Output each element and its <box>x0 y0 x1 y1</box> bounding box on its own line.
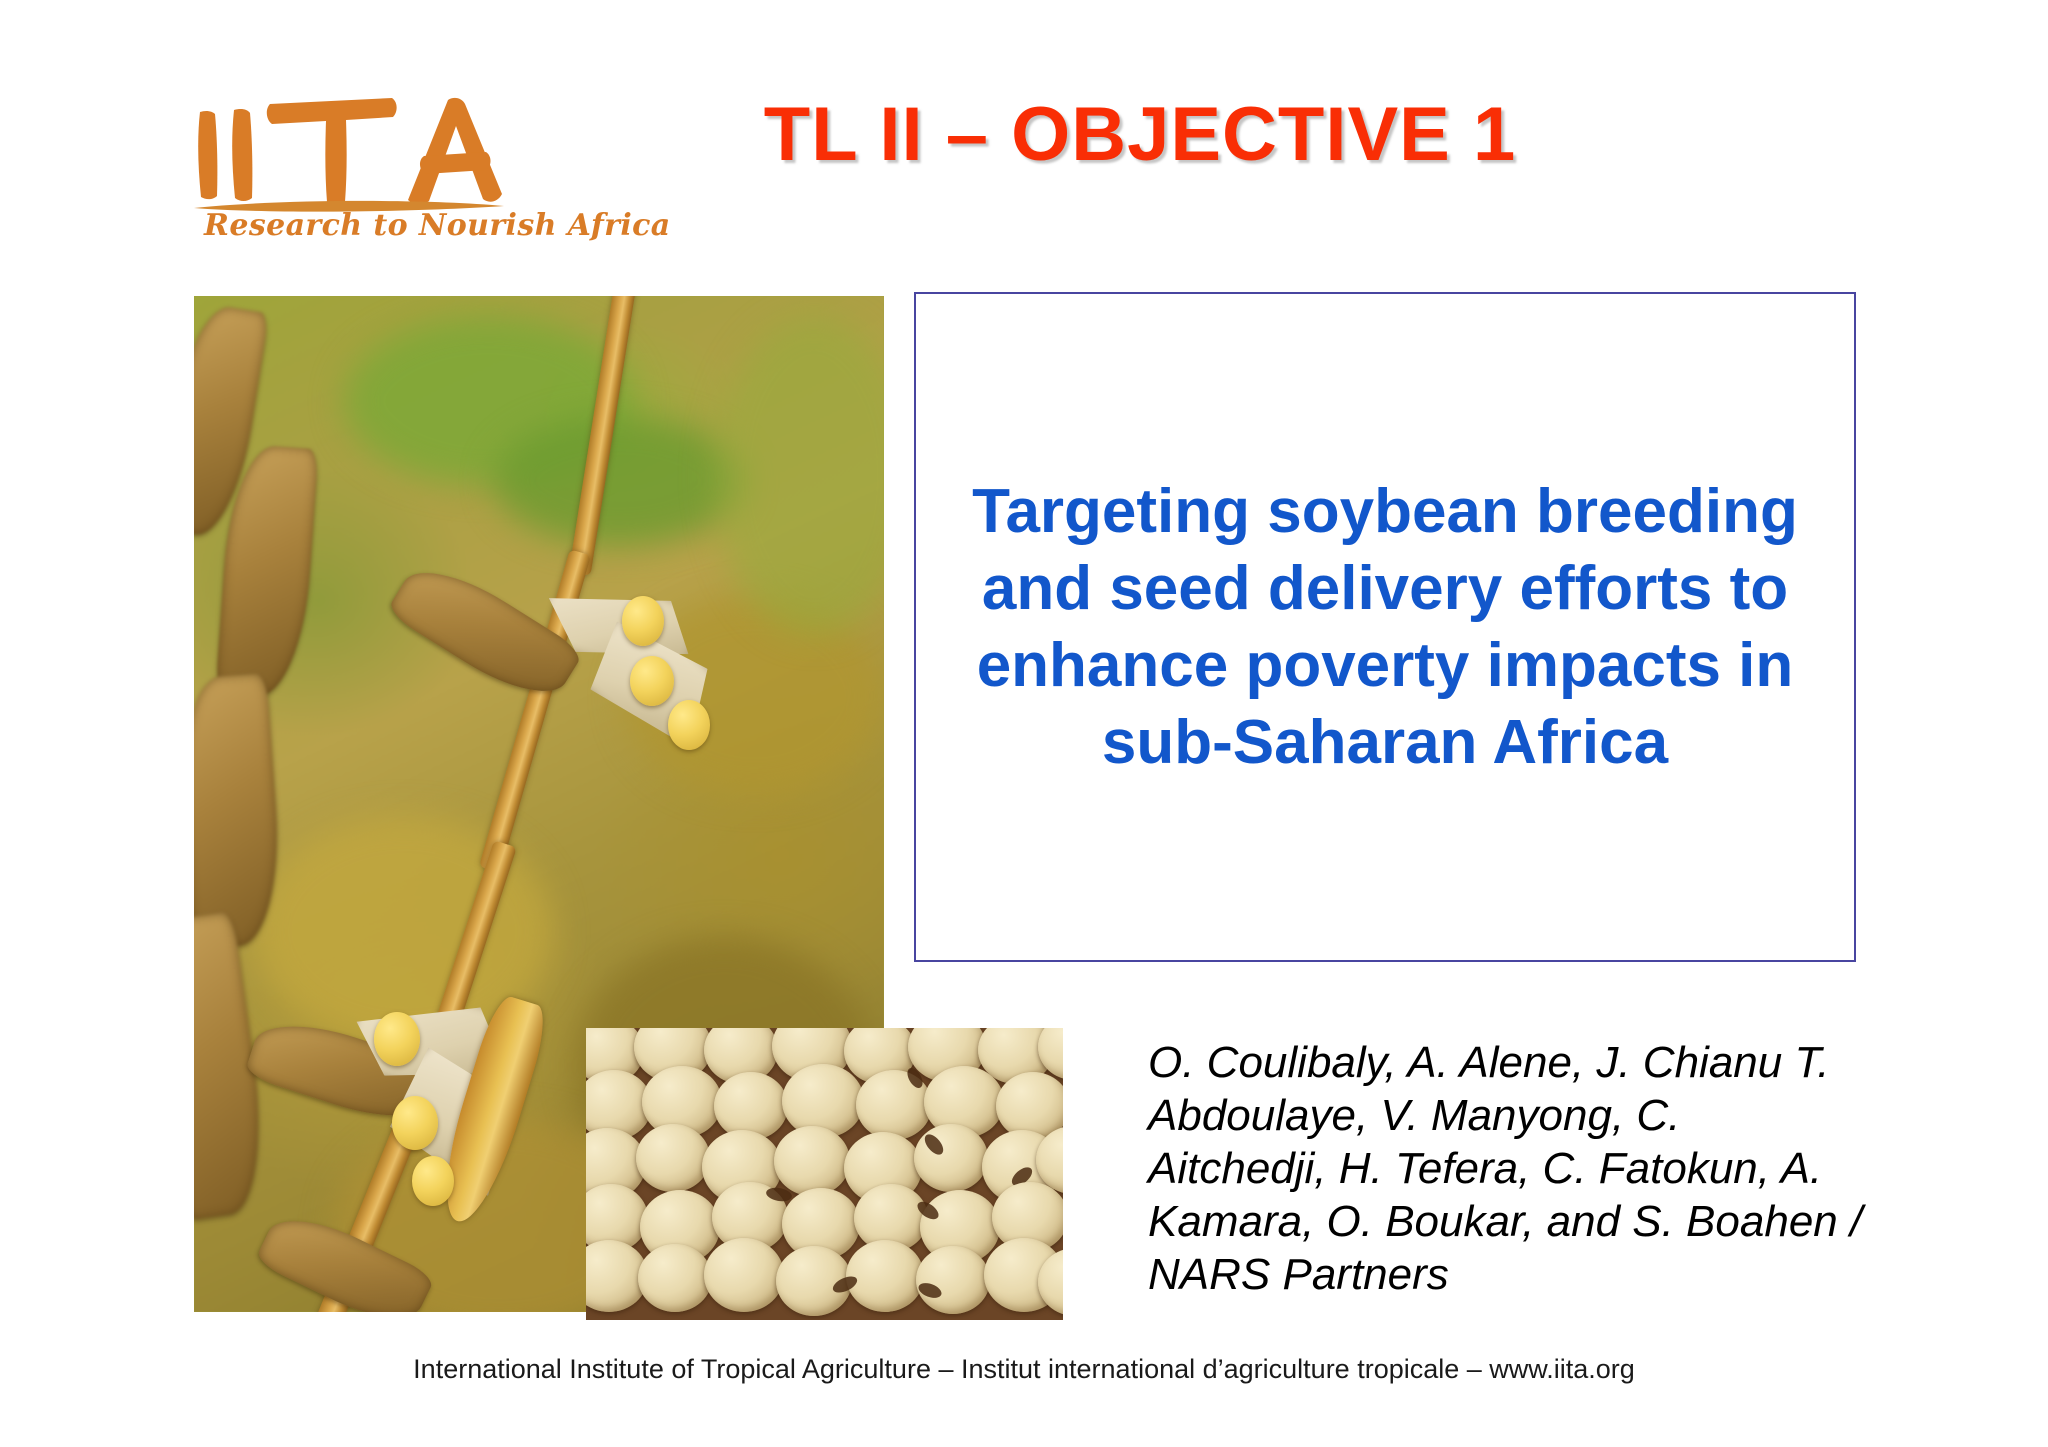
slide-canvas: Research to Nourish Africa TL II – OBJEC… <box>0 0 2048 1447</box>
iita-wordmark-icon <box>186 96 506 214</box>
blur-leaf <box>494 416 744 546</box>
author-list: O. Coulibaly, A. Alene, J. Chianu T. Abd… <box>1148 1036 1868 1301</box>
presentation-title: Targeting soybean breeding and seed deli… <box>916 473 1854 781</box>
presentation-title-box: Targeting soybean breeding and seed deli… <box>914 292 1856 962</box>
footer-text: International Institute of Tropical Agri… <box>0 1354 2048 1385</box>
soybean-seeds-photo <box>586 1028 1063 1320</box>
seed <box>622 596 664 646</box>
seed <box>392 1096 438 1150</box>
seed <box>412 1156 454 1206</box>
seed <box>374 1012 420 1066</box>
iita-logo: Research to Nourish Africa <box>186 96 546 256</box>
seed <box>630 656 674 706</box>
logo-tagline: Research to Nourish Africa <box>204 208 544 243</box>
seed <box>668 700 710 750</box>
page-title: TL II – OBJECTIVE 1 <box>560 92 1720 178</box>
